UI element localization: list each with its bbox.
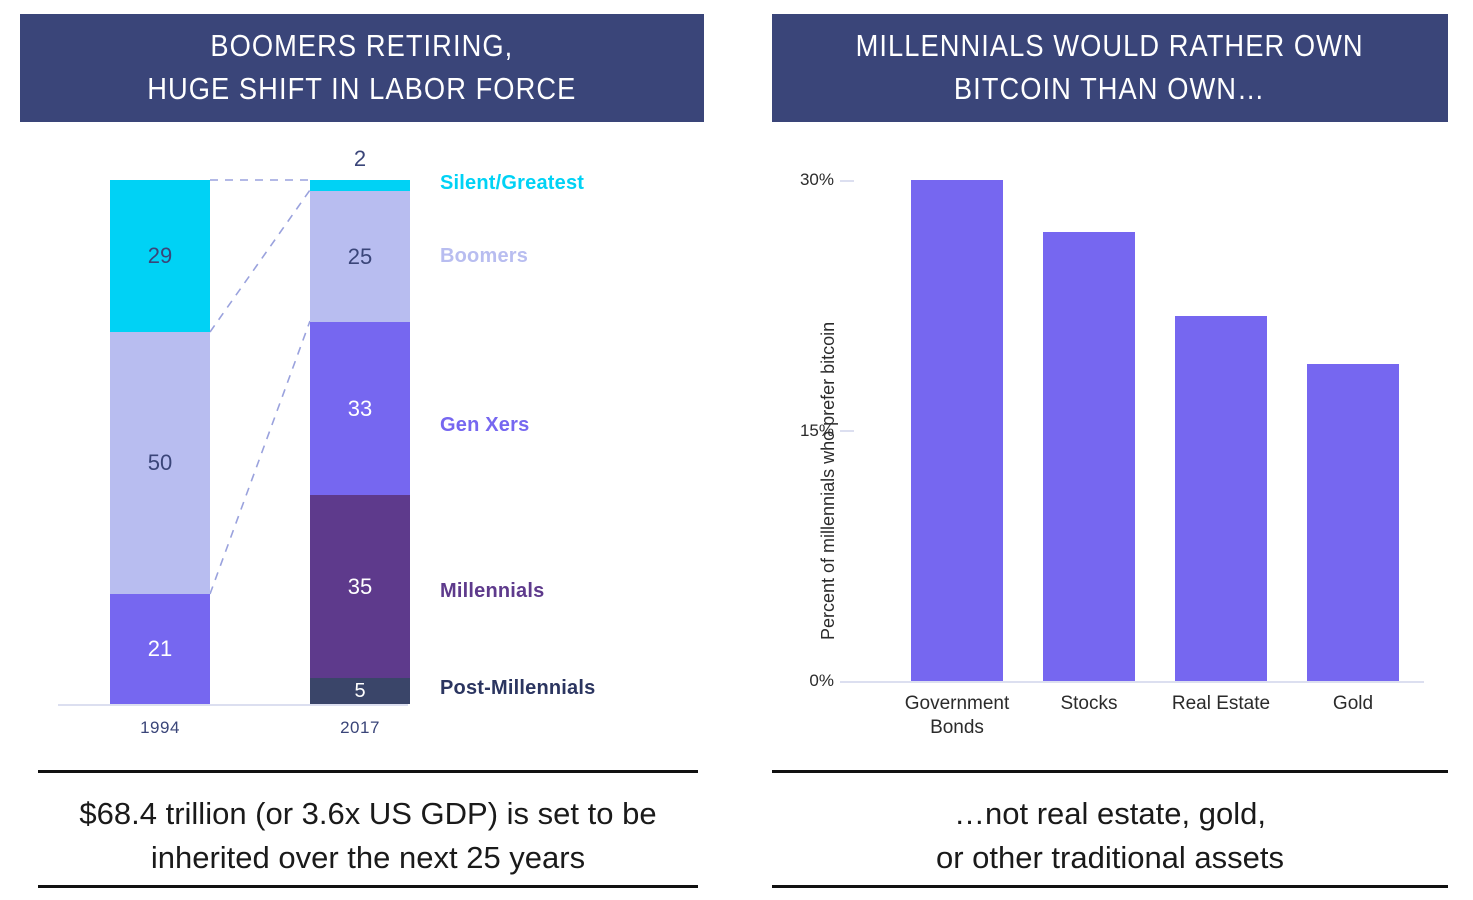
segment-value-1994-boomers: 50 — [148, 450, 172, 476]
y-tick-mark-15 — [840, 430, 854, 432]
left-title-line1: BOOMERS RETIRING, — [147, 25, 576, 68]
x-tick-1994: 1994 — [110, 718, 210, 738]
y-tick-label-15: 15% — [754, 421, 834, 441]
right-title-line1: MILLENNIALS WOULD RATHER OWN — [856, 25, 1364, 68]
right-panel-header: MILLENNIALS WOULD RATHER OWN BITCOIN THA… — [772, 14, 1448, 122]
x-tick-gold: Gold — [1273, 692, 1433, 716]
left-panel-title: BOOMERS RETIRING, HUGE SHIFT IN LABOR FO… — [147, 25, 576, 111]
bitcoin-preference-bar-chart: Percent of millennials who prefer bitcoi… — [736, 140, 1473, 760]
left-title-line2: HUGE SHIFT IN LABOR FORCE — [147, 68, 576, 111]
bitcoin-chart-baseline — [840, 681, 1424, 683]
bar-gold[interactable] — [1307, 364, 1399, 681]
segment-2017-gen-xers[interactable]: 33 — [310, 322, 410, 495]
bar-stocks[interactable] — [1043, 232, 1135, 681]
segment-value-1994-genx: 21 — [148, 636, 172, 662]
right-panel: MILLENNIALS WOULD RATHER OWN BITCOIN THA… — [736, 0, 1473, 900]
segment-1994-boomers[interactable]: 50 — [110, 332, 210, 594]
legend-item-silent-greatest[interactable]: Silent/Greatest — [440, 172, 584, 195]
caption-rule-top — [772, 770, 1448, 773]
labor-force-stacked-bar-chart: 29 50 21 25 33 35 — [0, 140, 736, 760]
segment-2017-silent-greatest[interactable] — [310, 180, 410, 191]
segment-value-1994-silent: 29 — [148, 243, 172, 269]
right-panel-caption: …not real estate, gold, or other traditi… — [772, 770, 1448, 888]
caption-rule-bottom — [38, 885, 698, 888]
left-caption-line2: inherited over the next 25 years — [38, 836, 698, 880]
left-panel: BOOMERS RETIRING, HUGE SHIFT IN LABOR FO… — [0, 0, 736, 900]
legend-item-gen-xers[interactable]: Gen Xers — [440, 414, 529, 437]
right-caption-line1: …not real estate, gold, — [772, 792, 1448, 836]
stacked-chart-baseline — [58, 704, 408, 706]
segment-2017-boomers[interactable]: 25 — [310, 191, 410, 322]
right-title-line2: BITCOIN THAN OWN… — [856, 68, 1364, 111]
y-tick-mark-30 — [840, 180, 854, 182]
caption-rule-bottom — [772, 885, 1448, 888]
x-tick-government-bonds-line2: Bonds — [877, 716, 1037, 740]
legend-item-millennials[interactable]: Millennials — [440, 580, 544, 603]
segment-value-2017-silent: 2 — [310, 146, 410, 172]
segment-value-2017-post-millennials: 5 — [354, 680, 365, 703]
segment-2017-millennials[interactable]: 35 — [310, 495, 410, 678]
segment-value-2017-boomers: 25 — [348, 244, 372, 270]
bar-real-estate[interactable] — [1175, 316, 1267, 681]
segment-value-2017-millennials: 35 — [348, 574, 372, 600]
stacked-bar-2017[interactable]: 25 33 35 5 — [310, 180, 410, 704]
segment-value-2017-genx: 33 — [348, 396, 372, 422]
y-tick-label-30: 30% — [754, 170, 834, 190]
x-tick-2017: 2017 — [310, 718, 410, 738]
right-panel-title: MILLENNIALS WOULD RATHER OWN BITCOIN THA… — [856, 25, 1364, 111]
segment-1994-silent-greatest[interactable]: 29 — [110, 180, 210, 332]
caption-rule-top — [38, 770, 698, 773]
bar-government-bonds[interactable] — [911, 180, 1003, 681]
left-caption-line1: $68.4 trillion (or 3.6x US GDP) is set t… — [38, 792, 698, 836]
legend-item-boomers[interactable]: Boomers — [440, 245, 528, 268]
left-panel-caption: $68.4 trillion (or 3.6x US GDP) is set t… — [38, 770, 698, 888]
legend-item-post-millennials[interactable]: Post-Millennials — [440, 677, 595, 700]
right-caption-line2: or other traditional assets — [772, 836, 1448, 880]
stacked-bar-1994[interactable]: 29 50 21 — [110, 180, 210, 704]
segment-1994-gen-xers[interactable]: 21 — [110, 594, 210, 704]
y-tick-label-0: 0% — [754, 671, 834, 691]
infographic-root: BOOMERS RETIRING, HUGE SHIFT IN LABOR FO… — [0, 0, 1473, 900]
left-panel-header: BOOMERS RETIRING, HUGE SHIFT IN LABOR FO… — [20, 14, 704, 122]
segment-2017-post-millennials[interactable]: 5 — [310, 678, 410, 704]
y-axis-label: Percent of millennials who prefer bitcoi… — [818, 322, 839, 640]
